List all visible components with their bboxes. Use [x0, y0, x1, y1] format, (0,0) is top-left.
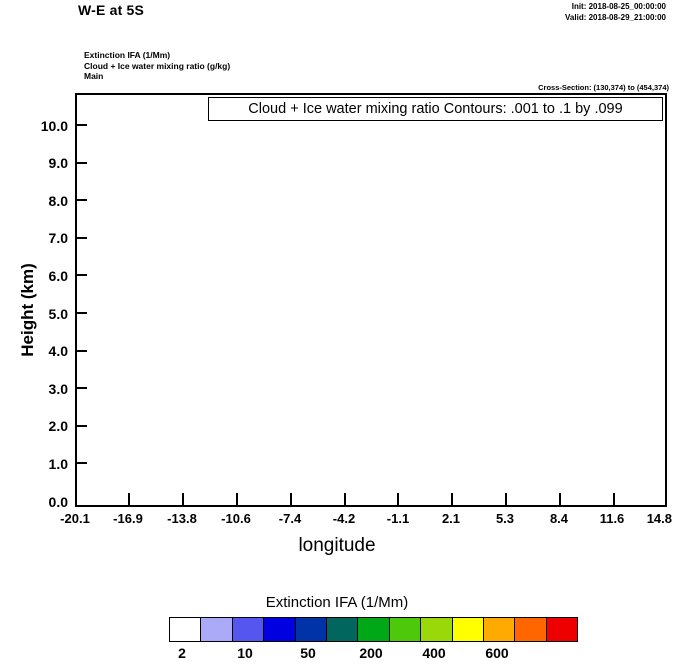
colorbar-swatch-0 — [170, 618, 201, 641]
colorbar-swatch-5 — [327, 618, 358, 641]
x-tick-4: -7.4 — [260, 511, 320, 526]
x-axis-title: longitude — [0, 535, 674, 557]
y-tick-9: 9.0 — [8, 155, 68, 171]
y-tick-10: 10.0 — [8, 118, 68, 134]
valid-time-label: Valid: 2018-08-29_21:00:00 — [565, 13, 666, 22]
colorbar-swatch-7 — [390, 618, 421, 641]
y-tick-6: 6.0 — [8, 268, 68, 284]
y-tick-3: 3.0 — [8, 381, 68, 397]
colorbar-tick-400: 400 — [404, 645, 464, 661]
x-tick-1: -16.9 — [98, 511, 158, 526]
figure-canvas: W-E at 5S Init: 2018-08-25_00:00:00 Vali… — [0, 0, 674, 667]
colorbar-swatch-10 — [484, 618, 515, 641]
x-tick-2: -13.8 — [152, 511, 212, 526]
colorbar-swatch-1 — [201, 618, 232, 641]
y-tick-5: 5.0 — [8, 306, 68, 322]
colorbar-swatch-9 — [453, 618, 484, 641]
y-axis-title: Height (km) — [18, 220, 38, 400]
x-tick-6: -1.1 — [368, 511, 428, 526]
variable-line-domain: Main — [84, 71, 230, 82]
colorbar-swatch-12 — [547, 618, 577, 641]
colorbar-swatch-4 — [296, 618, 327, 641]
x-tick-0: -20.1 — [45, 511, 105, 526]
y-tick-8: 8.0 — [8, 193, 68, 209]
contour-title-box: Cloud + Ice water mixing ratio Contours:… — [208, 97, 663, 121]
x-tick-5: -4.2 — [314, 511, 374, 526]
y-tick-7: 7.0 — [8, 230, 68, 246]
colorbar-tick-200: 200 — [341, 645, 401, 661]
x-tick-7: 2.1 — [421, 511, 481, 526]
y-tick-1: 1.0 — [8, 456, 68, 472]
colorbar-swatch-8 — [421, 618, 452, 641]
colorbar-title: Extinction IFA (1/Mm) — [0, 594, 674, 611]
variable-line-shaded: Extinction IFA (1/Mm) — [84, 50, 230, 61]
colorbar-swatch-3 — [264, 618, 295, 641]
plot-frame-border — [75, 93, 667, 507]
x-tick-9: 8.4 — [529, 511, 589, 526]
y-tick-0: 0.0 — [8, 494, 68, 510]
variable-line-contour: Cloud + Ice water mixing ratio (g/kg) — [84, 61, 230, 72]
colorbar-tick-10: 10 — [215, 645, 275, 661]
cross-section-label: Cross-Section: (130,374) to (454,374) — [538, 83, 669, 92]
y-tick-2: 2.0 — [8, 418, 68, 434]
x-tick-11: 14.8 — [617, 511, 672, 526]
colorbar-swatch-11 — [515, 618, 546, 641]
colorbar-tick-2: 2 — [152, 645, 212, 661]
x-tick-8: 5.3 — [475, 511, 535, 526]
y-tick-4: 4.0 — [8, 343, 68, 359]
variable-description-block: Extinction IFA (1/Mm) Cloud + Ice water … — [84, 50, 230, 82]
colorbar — [169, 617, 578, 642]
figure-title: W-E at 5S — [78, 2, 144, 18]
colorbar-swatch-2 — [233, 618, 264, 641]
contour-title-text: Cloud + Ice water mixing ratio Contours:… — [248, 101, 622, 117]
colorbar-tick-600: 600 — [467, 645, 527, 661]
colorbar-tick-50: 50 — [278, 645, 338, 661]
init-time-label: Init: 2018-08-25_00:00:00 — [572, 2, 666, 11]
x-tick-3: -10.6 — [206, 511, 266, 526]
colorbar-swatch-6 — [358, 618, 389, 641]
